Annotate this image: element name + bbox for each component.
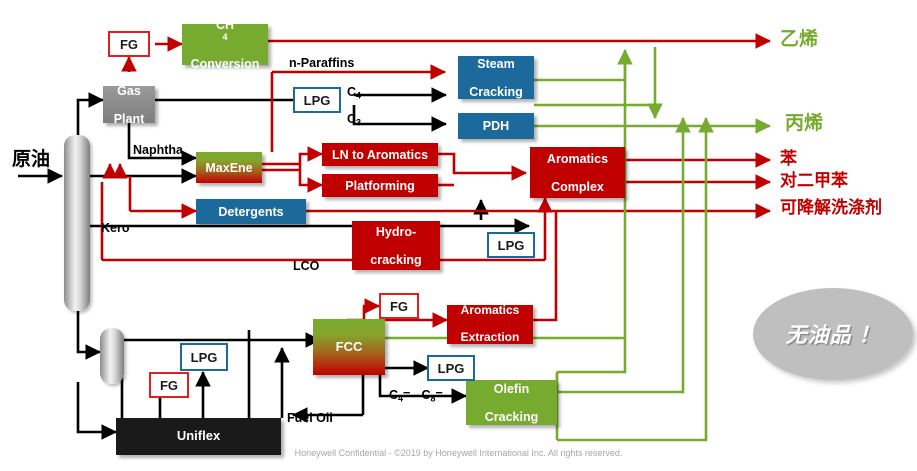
tag-lpg-hydrocracking[interactable]: LPG: [487, 232, 535, 258]
unit-ch4-conversion[interactable]: CH4Conversion: [182, 24, 268, 65]
label-c4: C4: [347, 86, 361, 100]
ch4-conversion-subscript: 4: [191, 32, 260, 42]
steam-cracking-line2: Cracking: [469, 85, 523, 99]
product-benzene: 苯: [780, 150, 797, 167]
crude-distillation-column: [64, 135, 90, 311]
callout-no-fuel-products: 无油品 ！: [753, 288, 913, 380]
unit-steam-cracking[interactable]: SteamCracking: [458, 56, 534, 99]
ln-to-aromatics-label: LN to Aromatics: [332, 148, 428, 162]
platforming-label: Platforming: [345, 179, 414, 193]
label-olefins-range: C4= - C8=: [389, 389, 443, 403]
label-lco: LCO: [293, 260, 319, 273]
product-ethylene: 乙烯: [780, 30, 818, 49]
label-fuel-oil: Fuel Oil: [287, 412, 333, 425]
unit-gas-plant[interactable]: GasPlant: [103, 86, 155, 123]
unit-olefin-cracking[interactable]: OlefinCracking: [466, 380, 557, 425]
fcc-label: FCC: [336, 340, 363, 355]
aromatics-complex-line1: Aromatics: [547, 152, 608, 166]
tag-lpg-fcc[interactable]: LPG: [427, 355, 475, 381]
unit-aromatics-extraction[interactable]: AromaticsExtraction: [447, 305, 533, 344]
olefin-cracking-line1: Olefin: [485, 382, 539, 396]
detergents-label: Detergents: [218, 205, 283, 219]
tag-lpg-uniflex-label: LPG: [191, 351, 218, 364]
product-paraxylene: 对二甲苯: [780, 172, 848, 189]
unit-ln-to-aromatics[interactable]: LN to Aromatics: [322, 143, 438, 166]
aromatics-extraction-line1: Aromatics: [461, 304, 520, 317]
uniflex-label: Uniflex: [177, 429, 220, 444]
tag-fg-gasplant[interactable]: FG: [108, 31, 150, 57]
aromatics-complex-line2: Complex: [547, 180, 608, 194]
aromatics-extraction-line2: Extraction: [461, 331, 520, 344]
unit-fcc[interactable]: FCC: [313, 319, 385, 375]
black-connectors: [18, 95, 529, 432]
unit-maxene[interactable]: MaxEne: [196, 152, 262, 183]
ch4-conversion-line1: CH: [191, 18, 260, 32]
tag-lpg-hydrocracking-label: LPG: [498, 239, 525, 252]
unit-aromatics-complex[interactable]: AromaticsComplex: [530, 147, 625, 198]
tag-lpg-uniflex[interactable]: LPG: [180, 343, 228, 371]
tag-fg-uniflex-label: FG: [160, 379, 178, 392]
label-c3-text: C: [347, 112, 356, 126]
label-c4-text: C: [347, 85, 356, 99]
maxene-label: MaxEne: [205, 161, 252, 175]
tag-fg-gasplant-label: FG: [120, 38, 138, 51]
gas-plant-line2: Plant: [114, 112, 145, 126]
hydrocracking-line1: Hydro-: [370, 225, 421, 239]
product-propylene: 丙烯: [785, 114, 823, 133]
ch4-conversion-line2: Conversion: [191, 57, 260, 71]
label-naphtha: Naphtha: [133, 144, 183, 157]
callout-text: 无油品 ！: [786, 319, 881, 349]
olefin-cracking-line2: Cracking: [485, 410, 539, 424]
gas-plant-line1: Gas: [114, 84, 145, 98]
label-c4-sub: 4: [356, 90, 361, 100]
unit-hydrocracking[interactable]: Hydro-cracking: [352, 221, 440, 270]
product-biodegradable-detergent: 可降解洗涤剂: [780, 199, 882, 216]
vacuum-column: [100, 328, 124, 384]
label-c3-sub: 3: [356, 117, 361, 127]
label-c3: C3: [347, 113, 361, 127]
unit-pdh[interactable]: PDH: [458, 113, 534, 139]
unit-platforming[interactable]: Platforming: [322, 174, 438, 197]
steam-cracking-line1: Steam: [469, 57, 523, 71]
tag-fg-fcc[interactable]: FG: [379, 293, 419, 319]
olefins-range-pre: C: [389, 388, 398, 402]
label-crude: 原油: [12, 150, 50, 169]
olefins-range-post: =: [436, 388, 443, 402]
tag-lpg-gasplant[interactable]: LPG: [293, 87, 341, 113]
process-flow-diagram: CH4Conversion GasPlant MaxEne Detergents…: [0, 0, 917, 471]
tag-lpg-fcc-label: LPG: [438, 362, 465, 375]
tag-fg-uniflex[interactable]: FG: [149, 372, 189, 398]
hydrocracking-line2: cracking: [370, 253, 421, 267]
olefins-range-mid: = - C: [403, 388, 430, 402]
footer-copyright: Honeywell Confidential - ©2019 by Honeyw…: [0, 448, 917, 458]
tag-lpg-gasplant-label: LPG: [304, 94, 331, 107]
label-kero: Kero: [101, 222, 129, 235]
label-n-paraffins: n-Paraffins: [289, 57, 354, 70]
pdh-label: PDH: [483, 119, 509, 133]
tag-fg-fcc-label: FG: [390, 300, 408, 313]
unit-detergents[interactable]: Detergents: [196, 199, 306, 224]
